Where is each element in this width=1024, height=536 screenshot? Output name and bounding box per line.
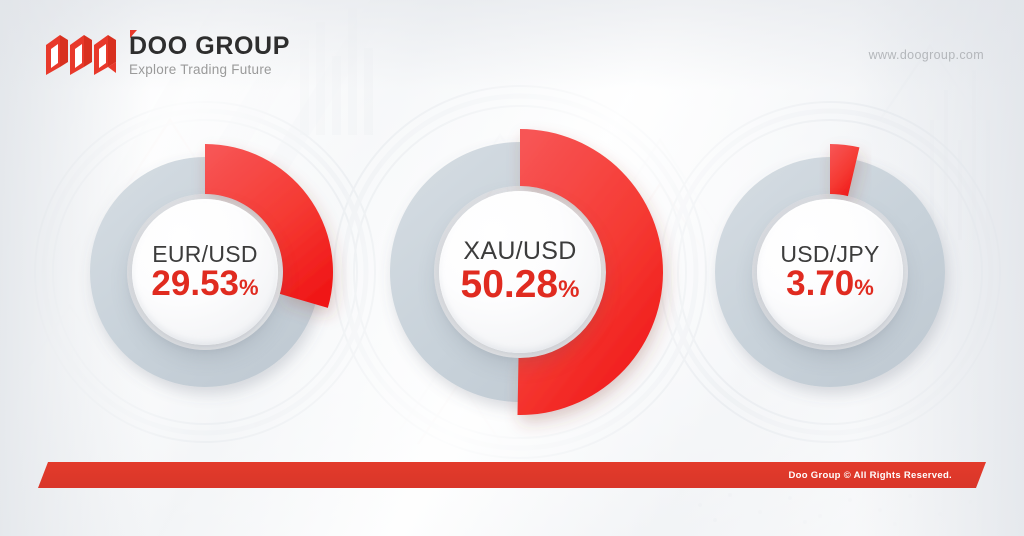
footer-bar: Doo Group © All Rights Reserved. (38, 462, 986, 488)
donut-percent-number: 3.70 (786, 266, 854, 303)
brand-text-block: DOO GROUP Explore Trading Future (129, 33, 290, 77)
donut-center-hub: EUR/USD 29.53% (132, 199, 278, 345)
donut-chart-usd-jpy: USD/JPY 3.70% (676, 118, 984, 426)
donut-pair-label: EUR/USD (152, 242, 258, 266)
donut-chart-eur-usd: EUR/USD 29.53% (51, 118, 359, 426)
donut-center-hub: USD/JPY 3.70% (757, 199, 903, 345)
site-url: www.doogroup.com (869, 48, 984, 62)
brand-tagline: Explore Trading Future (129, 62, 290, 77)
donut-pair-label: USD/JPY (780, 242, 879, 266)
page-footer: Doo Group © All Rights Reserved. (38, 462, 986, 488)
donut-center-hub: XAU/USD 50.28% (439, 191, 601, 353)
brand-name: DOO GROUP (129, 33, 290, 59)
footer-copyright: Doo Group © All Rights Reserved. (788, 470, 952, 481)
brand-accent-triangle-icon (130, 30, 137, 38)
percent-symbol: % (239, 276, 259, 299)
donut-chart-xau-usd: XAU/USD 50.28% (351, 103, 689, 441)
donut-percent-number: 29.53 (151, 266, 239, 303)
donut-percent-value: 50.28% (461, 265, 580, 306)
percent-symbol: % (854, 276, 874, 299)
donut-percent-number: 50.28 (461, 265, 559, 306)
doo-logo-mark-icon (44, 33, 116, 77)
percent-symbol: % (558, 277, 579, 302)
donut-pair-label: XAU/USD (463, 238, 576, 264)
donut-percent-value: 29.53% (151, 266, 258, 303)
donut-percent-value: 3.70% (786, 266, 874, 303)
brand-logo[interactable]: DOO GROUP Explore Trading Future (44, 33, 290, 77)
page-header: DOO GROUP Explore Trading Future www.doo… (0, 0, 1024, 110)
